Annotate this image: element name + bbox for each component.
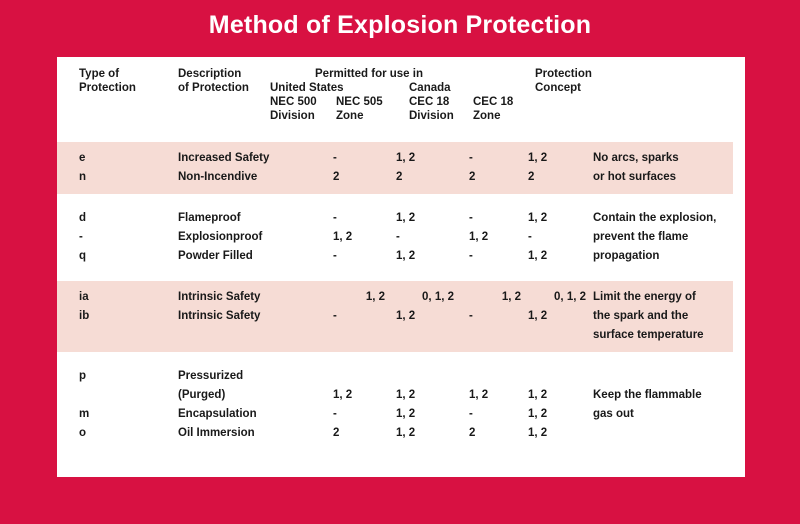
cell-description-of-protection: Pressurized (Purged) (178, 367, 243, 405)
cell-nec-500-division: 2 (333, 424, 385, 443)
cell-nec-505-zone: 1, 2 (396, 149, 454, 168)
cell-nec-505-zone: 1, 2 (396, 424, 454, 443)
cell-cec-18-division: 2 (469, 424, 521, 443)
table-card: Type of Protection Description of Protec… (57, 57, 745, 477)
cell-nec-500-division: 1, 2 (321, 288, 385, 307)
cell-description-of-protection: Powder Filled (178, 247, 253, 266)
cell-nec-500-division: - (333, 405, 385, 424)
cell-type-of-protection: m (79, 405, 89, 424)
cell-type-of-protection: - (79, 228, 83, 247)
cell-protection-concept: No arcs, sparks or hot surfaces (593, 149, 679, 187)
cell-cec-18-division: 1, 2 (469, 228, 521, 247)
table-row-group: iaIntrinsic Safety1, 20, 1, 21, 20, 1, 2… (57, 281, 733, 352)
cell-description-of-protection: Intrinsic Safety (178, 307, 260, 326)
cell-cec-18-zone: 1, 2 (528, 405, 586, 424)
cell-nec-500-division: 1, 2 (333, 228, 385, 247)
cell-cec-18-zone: 1, 2 (528, 386, 586, 405)
cell-protection-concept: Contain the explosion, prevent the flame… (593, 209, 716, 266)
cell-type-of-protection: q (79, 247, 86, 266)
cell-cec-18-division: 1, 2 (457, 288, 521, 307)
cell-protection-concept: Limit the energy of the spark and the su… (593, 288, 704, 345)
cell-cec-18-zone: - (528, 228, 586, 247)
cell-cec-18-division: - (469, 247, 521, 266)
poster-frame: Method of Explosion Protection Type of P… (0, 0, 800, 524)
cell-nec-500-division: 1, 2 (333, 386, 385, 405)
table-body: eIncreased Safety-1, 2-1, 2nNon-Incendiv… (57, 57, 745, 477)
cell-cec-18-zone: 2 (528, 168, 586, 187)
cell-cec-18-zone: 1, 2 (528, 424, 586, 443)
table-row-group: dFlameproof-1, 2-1, 2-Explosionproof1, 2… (57, 202, 745, 273)
cell-nec-505-zone: 1, 2 (396, 247, 454, 266)
cell-description-of-protection: Flameproof (178, 209, 241, 228)
cell-nec-505-zone: - (396, 228, 454, 247)
cell-cec-18-zone: 1, 2 (528, 247, 586, 266)
cell-description-of-protection: Oil Immersion (178, 424, 255, 443)
cell-description-of-protection: Non-Incendive (178, 168, 257, 187)
cell-cec-18-zone: 1, 2 (528, 307, 586, 326)
cell-type-of-protection: o (79, 424, 86, 443)
cell-nec-505-zone: 1, 2 (396, 307, 454, 326)
cell-type-of-protection: d (79, 209, 86, 228)
cell-cec-18-zone: 1, 2 (528, 209, 586, 228)
cell-nec-505-zone: 1, 2 (396, 209, 454, 228)
cell-protection-concept: Keep the flammable gas out (593, 386, 702, 424)
cell-type-of-protection: ia (79, 288, 89, 307)
cell-nec-505-zone: 2 (396, 168, 454, 187)
cell-nec-500-division: - (333, 209, 385, 228)
cell-nec-505-zone: 1, 2 (396, 405, 454, 424)
cell-type-of-protection: p (79, 367, 86, 386)
cell-nec-500-division: - (333, 307, 385, 326)
cell-cec-18-division: - (469, 405, 521, 424)
cell-nec-500-division: - (333, 149, 385, 168)
cell-type-of-protection: ib (79, 307, 89, 326)
cell-description-of-protection: Encapsulation (178, 405, 257, 424)
cell-type-of-protection: n (79, 168, 86, 187)
table-row-group: eIncreased Safety-1, 2-1, 2nNon-Incendiv… (57, 142, 733, 194)
cell-cec-18-zone: 1, 2 (528, 149, 586, 168)
cell-nec-500-division: - (333, 247, 385, 266)
cell-cec-18-division: 2 (469, 168, 521, 187)
cell-description-of-protection: Explosionproof (178, 228, 262, 247)
cell-nec-500-division: 2 (333, 168, 385, 187)
cell-cec-18-zone: 0, 1, 2 (516, 288, 586, 307)
cell-cec-18-division: 1, 2 (469, 386, 521, 405)
cell-description-of-protection: Intrinsic Safety (178, 288, 260, 307)
cell-nec-505-zone: 0, 1, 2 (384, 288, 454, 307)
cell-cec-18-division: - (469, 307, 521, 326)
cell-nec-505-zone: 1, 2 (396, 386, 454, 405)
cell-cec-18-division: - (469, 149, 521, 168)
cell-type-of-protection: e (79, 149, 85, 168)
table-row-group: pPressurized (Purged)1, 21, 21, 21, 2mEn… (57, 360, 745, 450)
cell-cec-18-division: - (469, 209, 521, 228)
page-title: Method of Explosion Protection (0, 8, 800, 42)
cell-description-of-protection: Increased Safety (178, 149, 269, 168)
